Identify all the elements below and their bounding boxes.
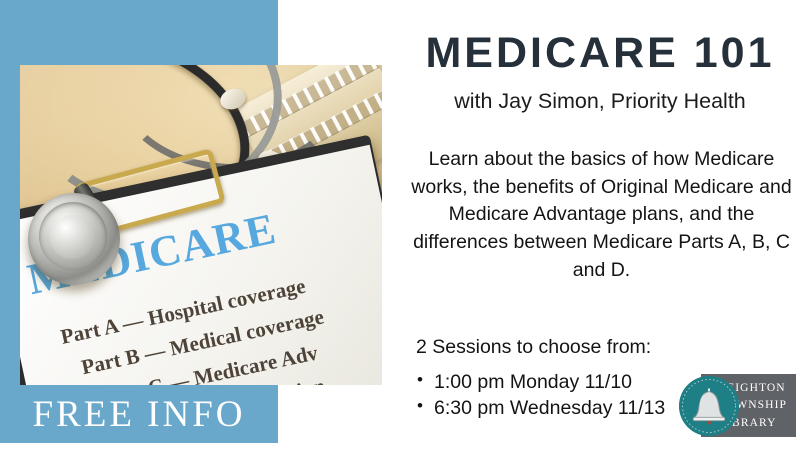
poster-canvas: MEDICARE Part A — Hospital coverage Part… (0, 0, 800, 450)
free-info-banner: FREE INFO (0, 385, 278, 443)
bell-icon (679, 376, 739, 436)
event-description: Learn about the basics of how Medicare w… (410, 146, 793, 284)
stethoscope-chestpiece (28, 193, 120, 285)
presenter-subtitle: with Jay Simon, Priority Health (400, 89, 800, 114)
sessions-heading: 2 Sessions to choose from: (416, 336, 651, 359)
page-title: MEDICARE 101 (400, 32, 800, 75)
medicare-clipboard-photo: MEDICARE Part A — Hospital coverage Part… (20, 65, 382, 385)
list-item: 6:30 pm Wednesday 11/13 (416, 396, 665, 422)
list-item: 1:00 pm Monday 11/10 (416, 370, 665, 396)
library-logo: LEIGHTON TOWNSHIP LIBRARY (679, 374, 796, 440)
sessions-list: 1:00 pm Monday 11/10 6:30 pm Wednesday 1… (416, 370, 665, 422)
